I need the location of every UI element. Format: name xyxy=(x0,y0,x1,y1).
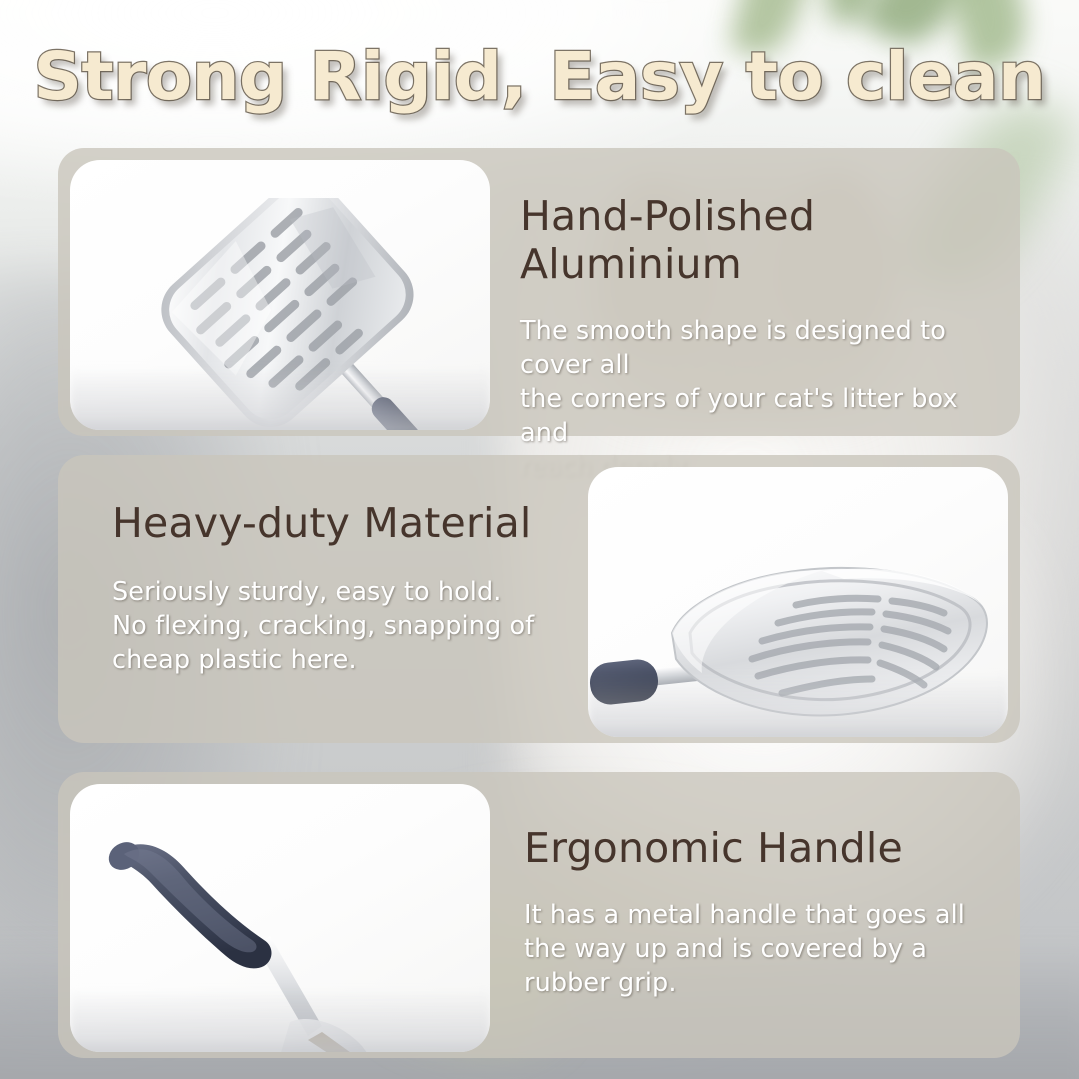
product-photo-panel xyxy=(70,160,490,430)
feature-description: It has a metal handle that goes all the … xyxy=(524,898,986,1000)
feature-title: Ergonomic Handle xyxy=(524,824,986,872)
product-feature-banner: Strong Rigid, Easy to clean xyxy=(0,0,1079,1079)
feature-copy: Heavy-duty Material Seriously sturdy, ea… xyxy=(58,455,588,743)
feature-copy: Hand-Polished Aluminium The smooth shape… xyxy=(490,148,1020,436)
feature-card-ergonomic-handle: Ergonomic Handle It has a metal handle t… xyxy=(58,772,1020,1058)
photo-floor-shadow xyxy=(588,673,1008,737)
feature-title: Heavy-duty Material xyxy=(112,499,554,547)
product-photo-panel xyxy=(588,467,1008,737)
feature-card-heavy-duty-material: Heavy-duty Material Seriously sturdy, ea… xyxy=(58,455,1020,743)
photo-floor-shadow xyxy=(70,988,490,1052)
feature-copy: Ergonomic Handle It has a metal handle t… xyxy=(490,772,1020,1058)
feature-description: Seriously sturdy, easy to hold. No flexi… xyxy=(112,575,554,677)
product-photo-panel xyxy=(70,784,490,1052)
feature-title: Hand-Polished Aluminium xyxy=(520,192,986,288)
photo-floor-shadow xyxy=(70,366,490,430)
feature-card-hand-polished-aluminium: Hand-Polished Aluminium The smooth shape… xyxy=(58,148,1020,436)
banner-headline: Strong Rigid, Easy to clean xyxy=(0,40,1079,114)
